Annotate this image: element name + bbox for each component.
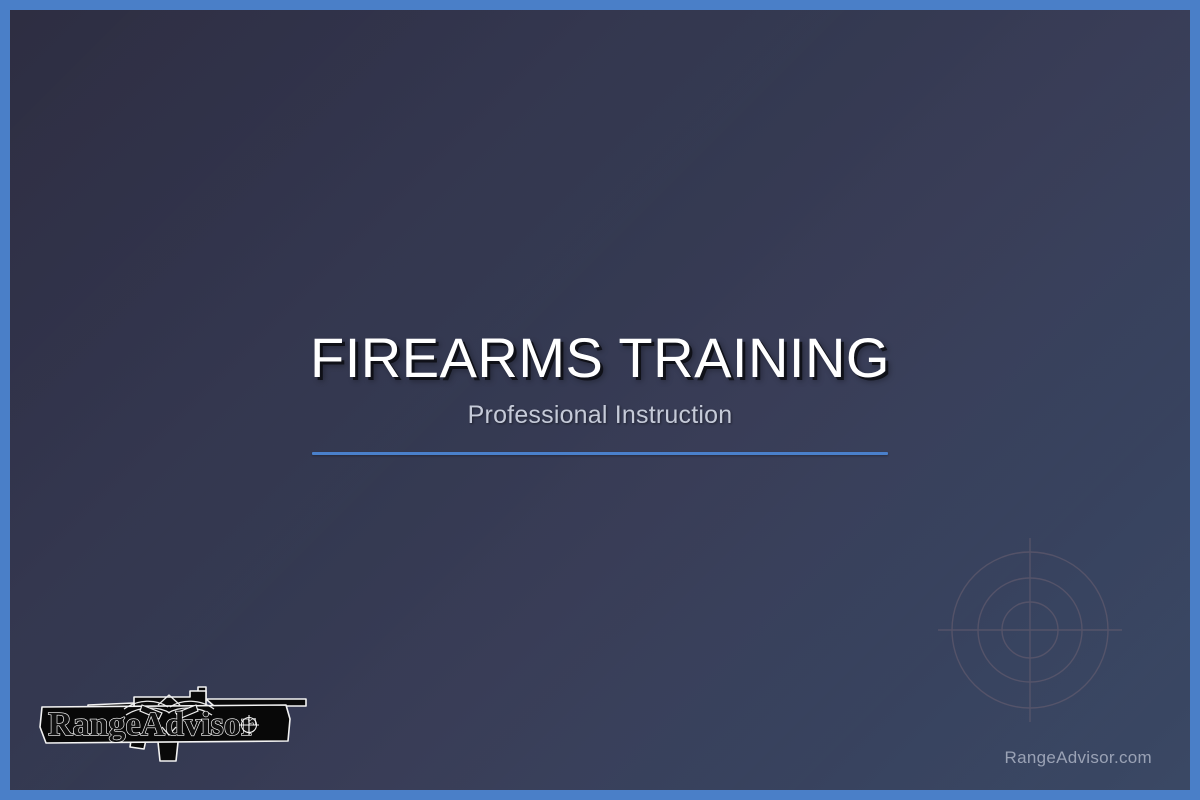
rifle-silhouette-logo: RangeAdvisor [38,675,318,770]
page-title: FIREARMS TRAINING [10,328,1190,387]
page-subtitle: Professional Instruction [10,401,1190,430]
target-crosshair-icon [930,530,1130,730]
title-divider [312,452,888,455]
footer-url: RangeAdvisor.com [1005,748,1152,768]
slide-canvas: FIREARMS TRAINING Professional Instructi… [10,10,1190,790]
presentation-slide: FIREARMS TRAINING Professional Instructi… [0,0,1200,800]
title-block: FIREARMS TRAINING Professional Instructi… [10,328,1190,455]
logo-wordmark: RangeAdvisor [48,706,256,743]
